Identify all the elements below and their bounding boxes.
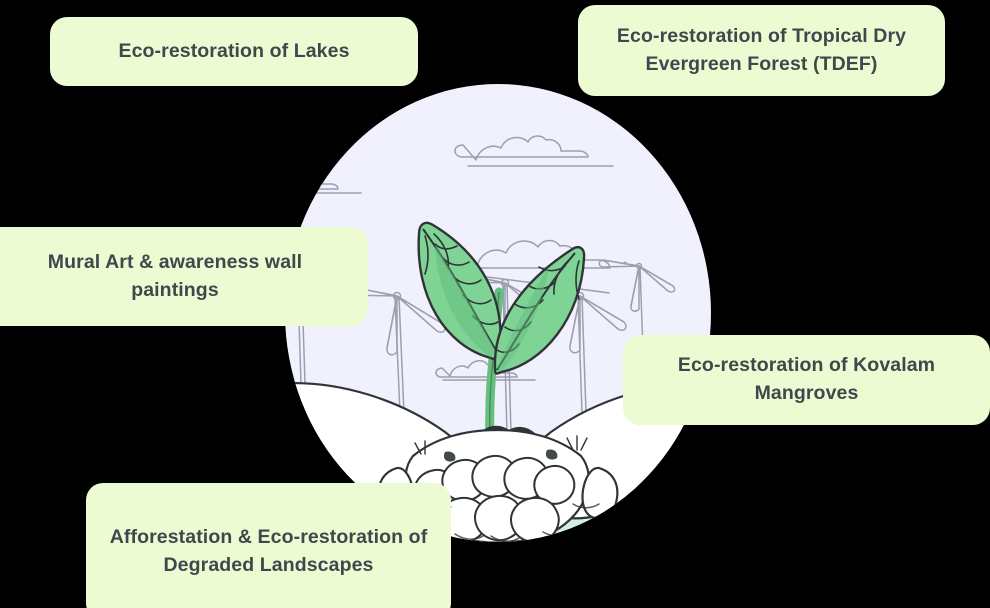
label-text: Eco-restoration of Kovalam Mangroves <box>645 352 968 407</box>
label-text: Afforestation & Eco-restoration of Degra… <box>108 524 429 579</box>
label-text: Eco-restoration of Lakes <box>72 38 396 66</box>
label-eco-restoration-of-kovalam-mangroves[interactable]: Eco-restoration of Kovalam Mangroves <box>623 335 990 425</box>
label-mural-art-awareness-wall-paintings[interactable]: Mural Art & awareness wall paintings <box>0 227 368 326</box>
label-eco-restoration-of-lakes[interactable]: Eco-restoration of Lakes <box>50 17 418 86</box>
infographic-canvas: Eco-restoration of Lakes Eco-restoration… <box>0 0 990 608</box>
label-eco-restoration-of-tdef[interactable]: Eco-restoration of Tropical Dry Evergree… <box>578 5 945 96</box>
label-text: Eco-restoration of Tropical Dry Evergree… <box>600 23 923 78</box>
label-text: Mural Art & awareness wall paintings <box>4 249 346 304</box>
label-afforestation-eco-restoration-degraded-landscapes[interactable]: Afforestation & Eco-restoration of Degra… <box>86 483 451 608</box>
